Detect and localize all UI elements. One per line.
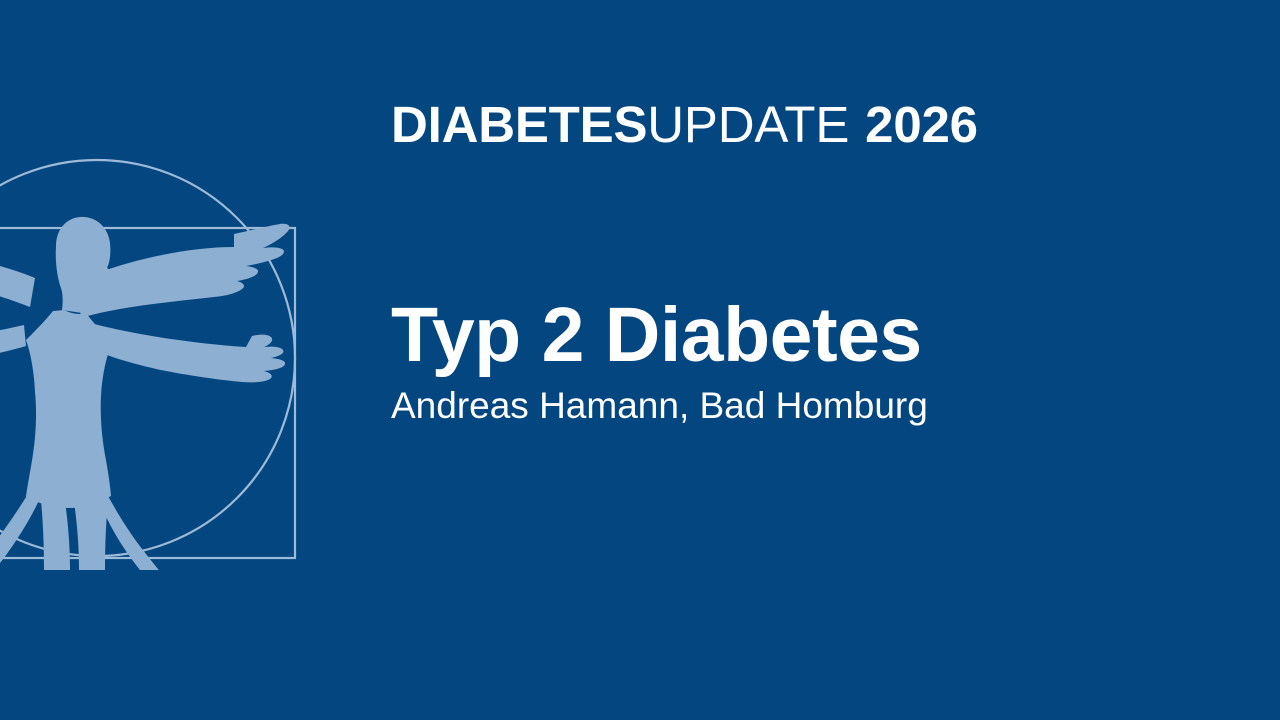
- page-title: Typ 2 Diabetes: [391, 292, 1211, 378]
- figure-right-arm-raised: [80, 224, 290, 318]
- figure-left-arm-raised: [0, 252, 35, 307]
- figure-torso: [26, 310, 112, 508]
- brand-name-bold: DIABETES: [391, 96, 647, 153]
- vitruvian-square-outline: [0, 228, 295, 558]
- figure-leg-left-center: [39, 500, 70, 570]
- brand-name-light: UPDATE: [647, 96, 849, 153]
- vitruvian-circle-outline: [0, 160, 295, 556]
- figure-leg-right-center: [74, 500, 110, 570]
- vitruvian-man-logo: [0, 0, 320, 720]
- brand-header: DIABETESUPDATE2026: [391, 96, 978, 154]
- title-block: Typ 2 Diabetes Andreas Hamann, Bad Hombu…: [391, 292, 1211, 428]
- figure-right-arm-horizontal: [92, 324, 285, 382]
- title-slide: DIABETESUPDATE2026 Typ 2 Diabetes Andrea…: [0, 0, 1280, 720]
- brand-year: 2026: [865, 96, 978, 153]
- figure-leg-left-spread: [0, 494, 40, 570]
- vitruvian-figure-silhouette: [0, 217, 290, 570]
- figure-leg-right-spread: [98, 496, 281, 570]
- page-subtitle: Andreas Hamann, Bad Homburg: [391, 378, 1211, 428]
- vitruvian-man-icon: [0, 150, 302, 570]
- figure-head: [56, 217, 115, 313]
- figure-waist-left: [26, 388, 50, 500]
- figure-left-arm-horizontal: [0, 325, 26, 363]
